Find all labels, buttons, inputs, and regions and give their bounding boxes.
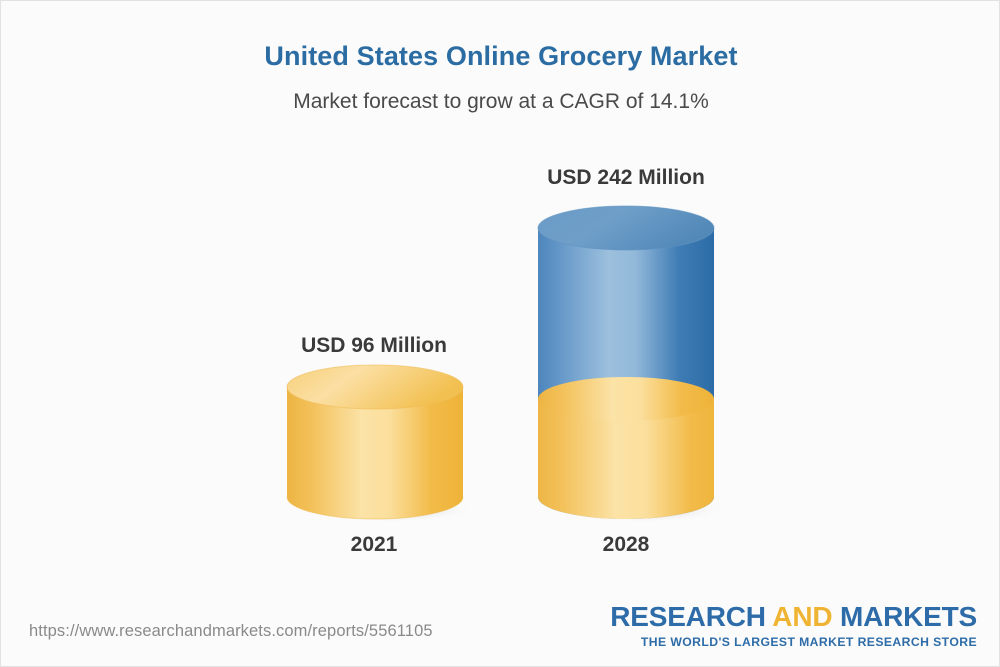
research-and-markets-logo[interactable]: RESEARCH AND MARKETS THE WORLD'S LARGEST… xyxy=(610,603,977,648)
bar-value-label-2028: USD 242 Million xyxy=(466,166,786,190)
logo-word-research: RESEARCH xyxy=(610,601,772,632)
chart-canvas: United States Online Grocery Market Mark… xyxy=(0,0,1000,667)
report-url[interactable]: https://www.researchandmarkets.com/repor… xyxy=(29,622,433,641)
cylinder-bar-2028 xyxy=(535,203,725,523)
logo-tagline: THE WORLD'S LARGEST MARKET RESEARCH STOR… xyxy=(610,636,977,648)
bar-value-label-2021: USD 96 Million xyxy=(214,334,534,358)
cylinder-bar-2021 xyxy=(284,363,474,523)
logo-word-and: AND xyxy=(772,601,840,632)
logo-word-markets: MARKETS xyxy=(840,601,977,632)
plot-area: USD 96 Million xyxy=(1,1,1000,601)
logo-wordmark: RESEARCH AND MARKETS xyxy=(610,603,977,631)
bar-category-label-2028: 2028 xyxy=(466,533,786,557)
